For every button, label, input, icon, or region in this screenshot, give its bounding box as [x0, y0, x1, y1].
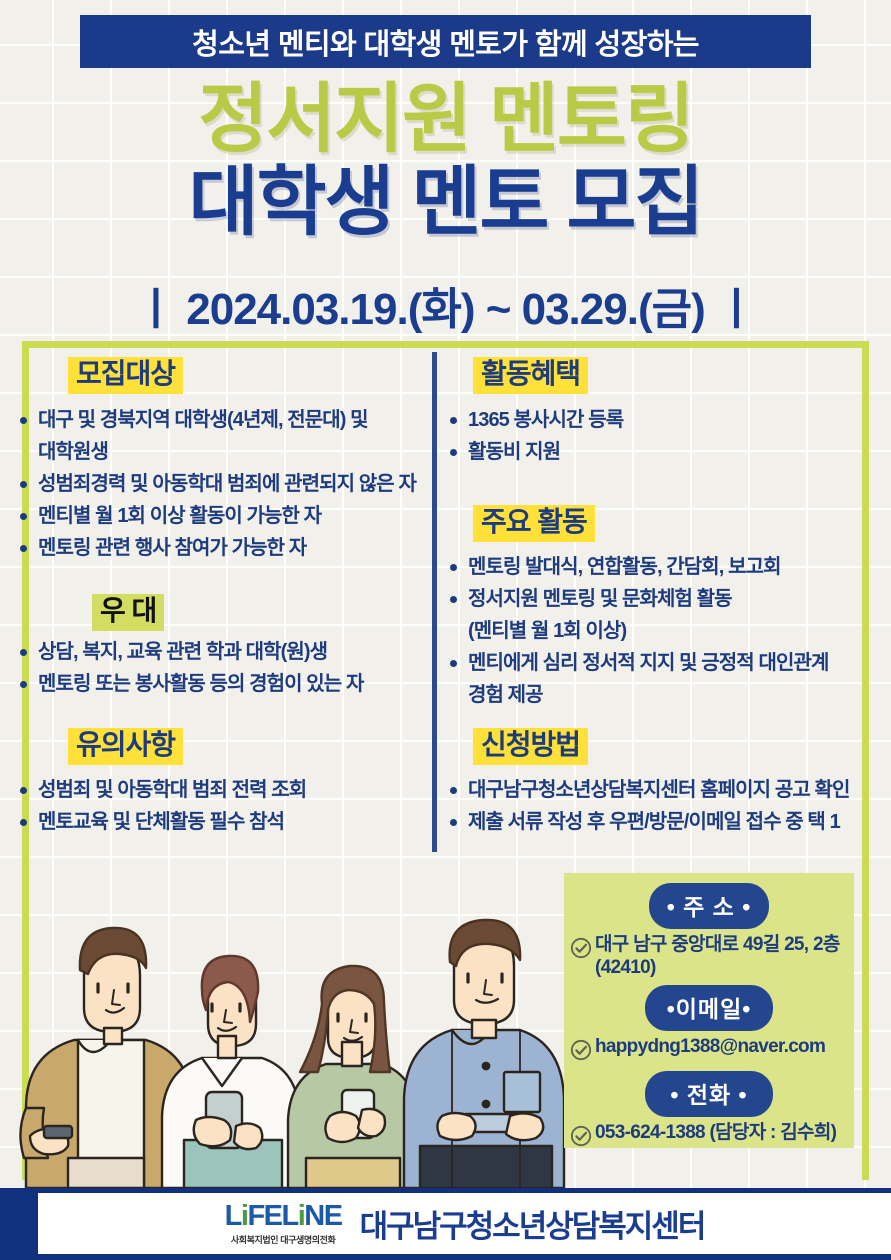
poster-title-line2: 대학생 멘토 모집 — [0, 165, 891, 241]
recruitment-date-range: ㅣ 2024.03.19.(화) ~ 03.29.(금) ㅣ — [0, 273, 891, 337]
check-circle-icon — [570, 937, 592, 959]
poster-title-line1: 정서지원 멘토링 — [0, 82, 891, 158]
bullet-dot — [20, 513, 27, 520]
list-item-label: 성범죄경력 및 아동학대 범죄에 관련되지 않은 자 — [38, 469, 416, 500]
phone-value[interactable]: 053-624-1388 (담당자 : 김수희) — [595, 1121, 836, 1144]
logo-char-l1: L — [225, 1202, 241, 1231]
logo-char-fe: FE — [247, 1202, 281, 1231]
list-item-label: 멘티별 월 1회 이상 활동이 가능한 자 — [38, 501, 321, 532]
footer-content: LiFELiNE 사회복지법인 대구생명의전화 대구남구청소년상담복지센터 — [38, 1193, 891, 1254]
list-item-label: 멘토교육 및 단체활동 필수 참석 — [38, 807, 284, 838]
header-badge-text: 청소년 멘티와 대학생 멘토가 함께 성장하는 — [192, 21, 699, 63]
list-item-label: 멘티에게 심리 정서적 지지 및 긍정적 대인관계 — [468, 648, 828, 679]
list-item-label: 대학원생 — [38, 437, 108, 468]
list-apply: 대구남구청소년상담복지센터 홈페이지 공고 확인 제출 서류 작성 후 우편/방… — [450, 775, 890, 839]
bullet-dot — [20, 545, 27, 552]
bullet-dot — [450, 564, 457, 571]
bullet-dot — [20, 681, 27, 688]
address-value-group: 대구 남구 중앙대로 49길 25, 2층 (42410) — [595, 933, 840, 979]
list-activities: 멘토링 발대식, 연합활동, 간담회, 보고회 정서지원 멘토링 및 문화체험 … — [450, 552, 880, 712]
list-item: 경험 제공 — [450, 680, 880, 711]
list-item-label: 상담, 복지, 교육 관련 학과 대학(원)생 — [38, 637, 327, 668]
section-heading-benefits: 활동혜택 — [473, 357, 588, 394]
list-item: 활동비 지원 — [450, 437, 880, 468]
list-item-label: 대구남구청소년상담복지센터 홈페이지 공고 확인 — [468, 775, 849, 806]
list-item-label: 1365 봉사시간 등록 — [468, 405, 623, 436]
lifeline-logo-wordmark: LiFELiNE — [225, 1202, 342, 1231]
list-item-label: 정서지원 멘토링 및 문화체험 활동 — [468, 584, 732, 615]
list-item: 대학원생 — [20, 437, 430, 468]
list-moojip: 대구 및 경북지역 대학생(4년제, 전문대) 및 대학원생 성범죄경력 및 아… — [20, 405, 430, 565]
list-item: 성범죄경력 및 아동학대 범죄에 관련되지 않은 자 — [20, 469, 430, 500]
header-badge: 청소년 멘티와 대학생 멘토가 함께 성장하는 — [80, 15, 811, 68]
lifeline-logo: LiFELiNE 사회복지법인 대구생명의전화 — [225, 1202, 342, 1246]
section-heading-woodae: 우 대 — [92, 594, 164, 631]
bullet-dot — [20, 481, 27, 488]
check-circle-icon — [570, 1125, 592, 1147]
list-item: 멘티에게 심리 정서적 지지 및 긍정적 대인관계 — [450, 648, 880, 679]
check-circle-icon — [570, 1039, 592, 1061]
email-label-pill: •이메일• — [645, 985, 773, 1031]
list-item-label: 멘토링 또는 봉사활동 등의 경험이 있는 자 — [38, 669, 363, 700]
list-item: 멘토링 또는 봉사활동 등의 경험이 있는 자 — [20, 669, 430, 700]
email-value[interactable]: happydng1388@naver.com — [595, 1035, 825, 1058]
list-item: 멘토링 관련 행사 참여가 가능한 자 — [20, 533, 430, 564]
list-item: 대구남구청소년상담복지센터 홈페이지 공고 확인 — [450, 775, 890, 806]
section-heading-apply: 신청방법 — [473, 728, 588, 765]
lifeline-logo-subtitle: 사회복지법인 대구생명의전화 — [231, 1233, 336, 1246]
list-item-label: 활동비 지원 — [468, 437, 560, 468]
address-line-1: 대구 남구 중앙대로 49길 25, 2층 — [595, 933, 840, 956]
address-label-pill: • 주 소 • — [649, 883, 769, 929]
list-item: 상담, 복지, 교육 관련 학과 대학(원)생 — [20, 637, 430, 668]
list-item-label: (멘티별 월 1회 이상) — [468, 616, 626, 647]
section-heading-notice: 유의사항 — [68, 728, 183, 765]
people-illustration — [0, 858, 586, 1188]
list-item-label: 경험 제공 — [468, 680, 543, 711]
bullet-dot — [20, 649, 27, 656]
bullet-dot — [450, 417, 457, 424]
phone-row: 053-624-1388 (담당자 : 김수희) — [564, 1117, 854, 1147]
list-notice: 성범죄 및 아동학대 범죄 전력 조회 멘토교육 및 단체활동 필수 참석 — [20, 775, 430, 839]
list-woodae: 상담, 복지, 교육 관련 학과 대학(원)생 멘토링 또는 봉사활동 등의 경… — [20, 637, 430, 701]
list-item: (멘티별 월 1회 이상) — [450, 616, 880, 647]
bullet-dot — [450, 819, 457, 826]
phone-label-pill: • 전화 • — [645, 1071, 773, 1117]
bullet-dot — [450, 660, 457, 667]
poster-root: 청소년 멘티와 대학생 멘토가 함께 성장하는 정서지원 멘토링 대학생 멘토 … — [0, 0, 891, 1260]
list-item: 멘티별 월 1회 이상 활동이 가능한 자 — [20, 501, 430, 532]
list-benefits: 1365 봉사시간 등록 활동비 지원 — [450, 405, 880, 469]
address-row: 대구 남구 중앙대로 49길 25, 2층 (42410) — [564, 929, 854, 979]
section-heading-moojip: 모집대상 — [68, 357, 183, 394]
list-item-label: 성범죄 및 아동학대 범죄 전력 조회 — [38, 775, 306, 806]
address-line-2: (42410) — [595, 956, 840, 979]
list-item: 멘토교육 및 단체활동 필수 참석 — [20, 807, 430, 838]
contact-box: • 주 소 • 대구 남구 중앙대로 49길 25, 2층 (42410) •이… — [564, 873, 854, 1148]
list-item-label: 멘토링 관련 행사 참여가 가능한 자 — [38, 533, 306, 564]
list-item: 제출 서류 작성 후 우편/방문/이메일 접수 중 택 1 — [450, 807, 890, 838]
organization-name: 대구남구청소년상담복지센터 — [360, 1201, 705, 1246]
bullet-dot — [20, 417, 27, 424]
list-item: 1365 봉사시간 등록 — [450, 405, 880, 436]
list-item-label: 멘토링 발대식, 연합활동, 간담회, 보고회 — [468, 552, 781, 583]
logo-char-ne: NE — [304, 1202, 341, 1231]
email-row: happydng1388@naver.com — [564, 1031, 854, 1061]
logo-char-l2: L — [282, 1202, 298, 1231]
list-item-label: 제출 서류 작성 후 우편/방문/이메일 접수 중 택 1 — [468, 807, 840, 838]
bullet-dot — [20, 819, 27, 826]
section-heading-activities: 주요 활동 — [473, 505, 595, 542]
bullet-dot — [20, 787, 27, 794]
list-item-label: 대구 및 경북지역 대학생(4년제, 전문대) 및 — [38, 405, 368, 436]
list-item: 대구 및 경북지역 대학생(4년제, 전문대) 및 — [20, 405, 430, 436]
column-divider — [432, 352, 437, 852]
bullet-dot — [450, 449, 457, 456]
list-item: 성범죄 및 아동학대 범죄 전력 조회 — [20, 775, 430, 806]
list-item: 정서지원 멘토링 및 문화체험 활동 — [450, 584, 880, 615]
list-item: 멘토링 발대식, 연합활동, 간담회, 보고회 — [450, 552, 880, 583]
bullet-dot — [450, 787, 457, 794]
bullet-dot — [450, 596, 457, 603]
